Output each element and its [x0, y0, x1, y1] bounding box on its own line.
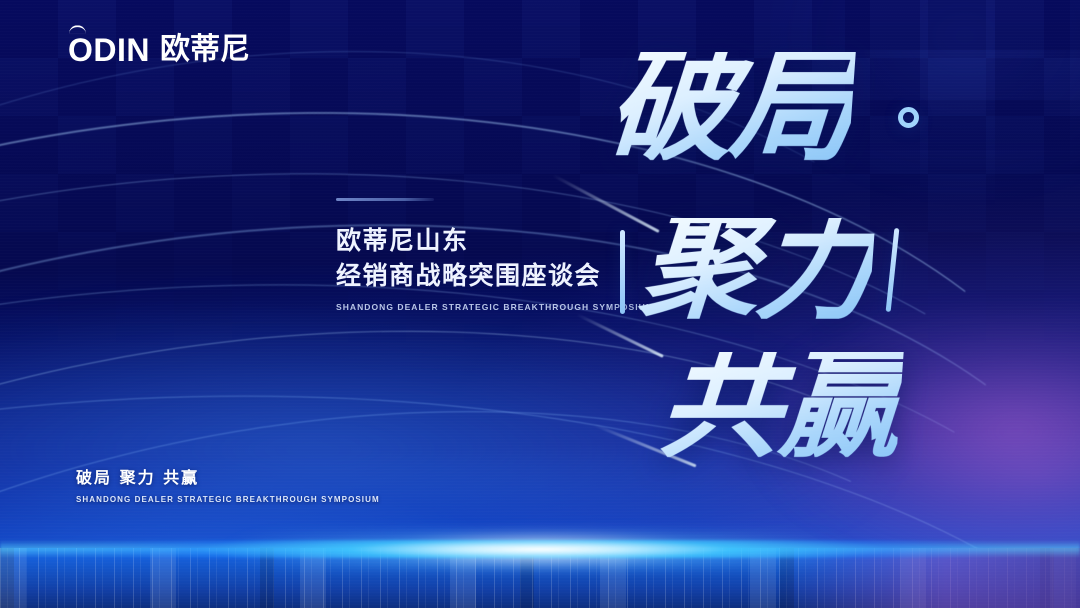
hero-line-3: 共赢: [656, 352, 903, 457]
hero-calligraphy: 破局 聚力 共赢: [560, 52, 1030, 472]
bottom-tagline-block: 破局 聚力 共赢 SHANDONG DEALER STRATEGIC BREAK…: [76, 464, 380, 504]
title-divider-rule: [336, 198, 434, 201]
hero-line-1: 破局: [604, 52, 856, 160]
logo-latin-text: DIN: [93, 34, 150, 66]
logo-chinese-text: 欧蒂尼: [160, 35, 250, 65]
horizon-glow-line: [0, 540, 1080, 558]
ring-dot-icon: [898, 107, 919, 128]
brand-logo: O DIN 欧蒂尼: [68, 34, 250, 66]
logo-latin-o: O: [68, 34, 93, 66]
hero-line-1-row: 破局: [608, 52, 852, 160]
logo-latin-mark: O DIN: [68, 34, 150, 66]
event-backdrop-poster: O DIN 欧蒂尼 欧蒂尼山东 经销商战略突围座谈会 SHANDONG DEAL…: [0, 0, 1080, 608]
hero-line-2: 聚力: [636, 218, 875, 319]
vertical-bar-icon-right: [886, 228, 900, 312]
tagline-chinese: 破局 聚力 共赢: [76, 464, 380, 488]
vertical-bar-icon-left: [620, 230, 625, 314]
hero-line-2-row: 聚力: [640, 218, 872, 319]
tagline-english: SHANDONG DEALER STRATEGIC BREAKTHROUGH S…: [76, 495, 380, 504]
hero-line-3-row: 共赢: [660, 352, 900, 457]
